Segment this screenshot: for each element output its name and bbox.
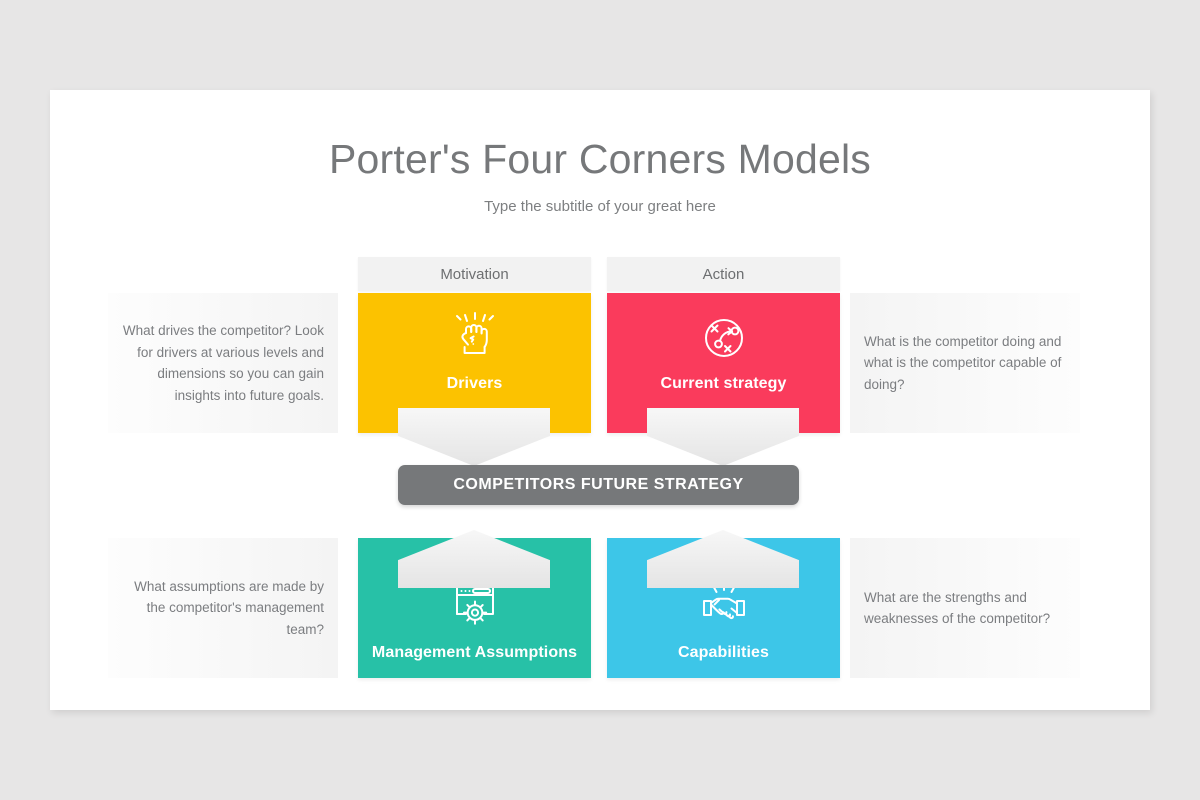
quadrant-label: Drivers [358, 375, 591, 393]
handshake-icon [699, 580, 749, 635]
note-text: What are the strengths and weaknesses of… [850, 587, 1080, 630]
quadrant-header-motivation[interactable]: Motivation [358, 257, 591, 291]
center-banner[interactable]: COMPETITORS FUTURE STRATEGY [398, 465, 799, 505]
four-corners-diagram: Motivation Action What drives the compet… [50, 90, 1150, 710]
arrow-strategy-to-center [647, 408, 799, 466]
quadrant-header-label: Motivation [440, 266, 508, 283]
quadrant-label: Current strategy [607, 375, 840, 393]
fist-icon [449, 311, 501, 368]
note-text: What is the competitor doing and what is… [850, 331, 1080, 396]
note-drivers: What drives the competitor? Look for dri… [108, 293, 338, 433]
quadrant-label: Management Assumptions [358, 644, 591, 662]
browser-gear-icon [450, 580, 500, 635]
strategy-tactics-icon [698, 311, 750, 368]
slide-canvas: Porter's Four Corners Models Type the su… [50, 90, 1150, 710]
note-text: What drives the competitor? Look for dri… [108, 320, 338, 406]
note-current-strategy: What is the competitor doing and what is… [850, 293, 1080, 433]
quadrant-label: Capabilities [607, 644, 840, 662]
center-banner-label: COMPETITORS FUTURE STRATEGY [453, 476, 743, 494]
note-text: What assumptions are made by the competi… [108, 576, 338, 641]
quadrant-header-action[interactable]: Action [607, 257, 840, 291]
arrow-drivers-to-center [398, 408, 550, 466]
quadrant-header-label: Action [703, 266, 745, 283]
note-capabilities: What are the strengths and weaknesses of… [850, 538, 1080, 678]
note-management-assumptions: What assumptions are made by the competi… [108, 538, 338, 678]
